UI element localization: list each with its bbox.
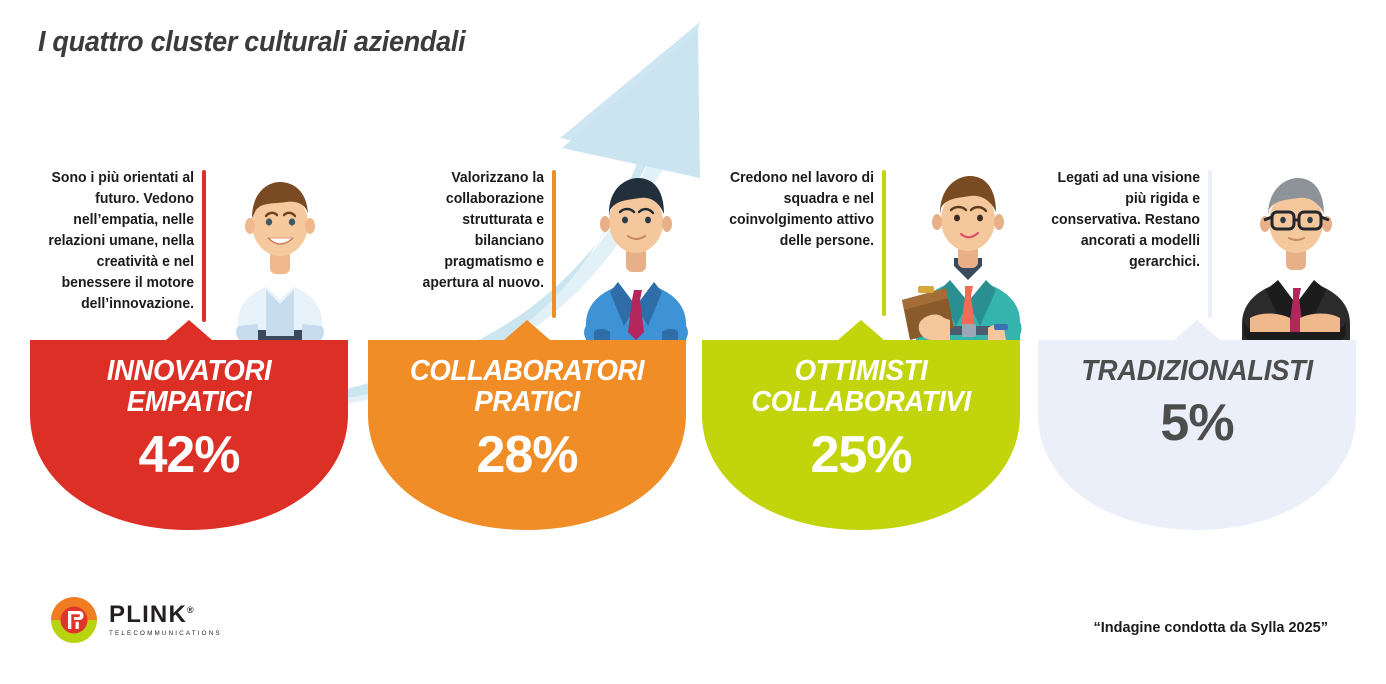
logo-tagline: TELECOMMUNICATIONS [109, 630, 222, 637]
accent-rule [1208, 170, 1212, 318]
source-note: “Indagine condotta da Sylla 2025” [1094, 620, 1328, 636]
cluster-card[interactable]: OTTIMISTICOLLABORATIVI 25% [702, 318, 1020, 533]
cluster-column-innovatori-empatici: Sono i più orientati al futuro. Vedono n… [22, 0, 362, 684]
plink-circle-logo-icon [50, 596, 98, 644]
cluster-description: Sono i più orientati al futuro. Vedono n… [29, 168, 194, 315]
cluster-card[interactable]: COLLABORATORIPRATICI 28% [368, 318, 686, 533]
cluster-description: Credono nel lavoro di squadra e nel coin… [728, 168, 874, 252]
cluster-card[interactable]: TRADIZIONALISTI 5% [1038, 318, 1356, 533]
plink-logo[interactable]: PLINK® TELECOMMUNICATIONS [50, 596, 222, 644]
cluster-column-ottimisti-collaborativi: Credono nel lavoro di squadra e nel coin… [700, 0, 1040, 684]
cluster-shield-shape [1038, 318, 1356, 533]
cluster-shield-shape [702, 318, 1020, 533]
accent-rule [882, 170, 886, 316]
cluster-column-collaboratori-pratici: Valorizzano la collaborazione strutturat… [364, 0, 704, 684]
cluster-shield-shape [368, 318, 686, 533]
cluster-description: Valorizzano la collaborazione strutturat… [398, 168, 544, 294]
logo-wordmark: PLINK [109, 601, 187, 628]
registered-trademark-icon: ® [187, 605, 195, 615]
cluster-description: Legati ad una visione più rigida e conse… [1048, 168, 1200, 273]
infographic-canvas: I quattro cluster culturali aziendali So… [0, 0, 1386, 684]
cluster-shield-shape [30, 318, 348, 533]
cluster-card[interactable]: INNOVATORIEMPATICI 42% [30, 318, 348, 533]
cluster-column-tradizionalisti: Legati ad una visione più rigida e conse… [1030, 0, 1370, 684]
